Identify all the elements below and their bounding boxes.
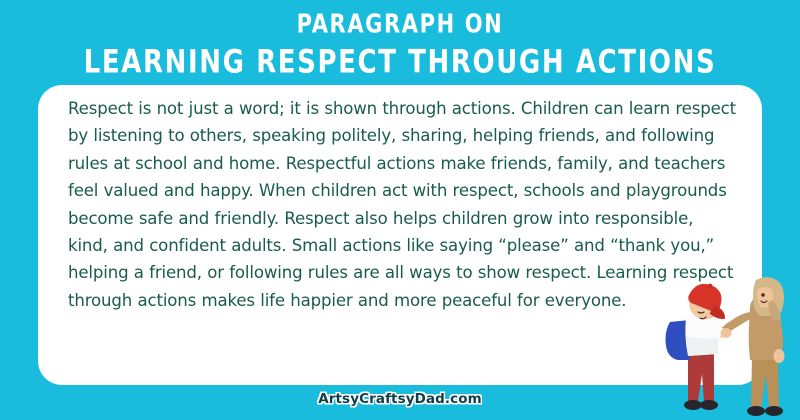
paragraph-body-text: Respect is not just a word; it is shown … [68, 95, 736, 314]
page-title: Paragraph On Learning Respect Through Ac… [0, 8, 800, 74]
poster-canvas: Paragraph On Learning Respect Through Ac… [0, 0, 800, 420]
title-line-2: Learning Respect Through Actions [0, 47, 800, 79]
title-line-1: Paragraph On [0, 12, 800, 38]
site-credit: ArtsyCraftsyDad.com [0, 391, 800, 407]
paragraph-card: Respect is not just a word; it is shown … [38, 85, 762, 385]
